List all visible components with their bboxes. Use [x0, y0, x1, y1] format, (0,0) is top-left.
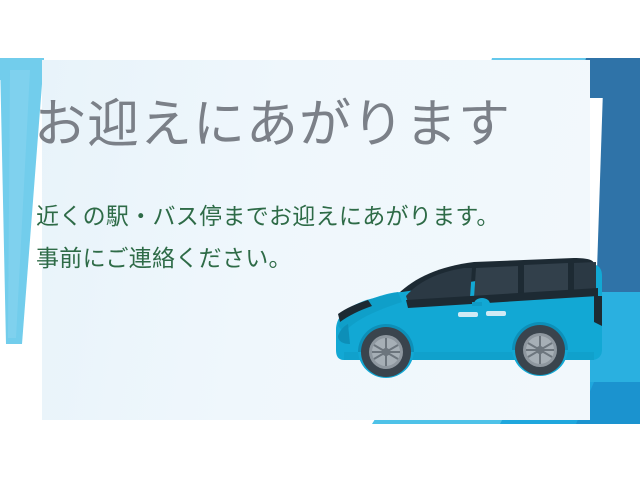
van-front-side-window [474, 266, 518, 298]
pickup-service-banner: お迎えにあがります 近くの駅・バス停までお迎えにあがります。 事前にご連絡くださ… [0, 0, 640, 480]
description-line-2: 事前にご連絡ください。 [36, 247, 292, 270]
van-taillight [594, 296, 602, 326]
van-front-wheel [361, 327, 411, 377]
van-rear-wheel [515, 325, 565, 375]
van-b-pillar [518, 264, 524, 296]
van-mirror-arm [472, 302, 482, 306]
van-c-pillar [568, 262, 574, 293]
van-rear-door-handle [486, 311, 506, 316]
van-front-door-handle [458, 312, 478, 317]
van-rear-side-window [574, 262, 596, 292]
page-title: お迎えにあがります [34, 98, 511, 153]
description-line-1: 近くの駅・バス停までお迎えにあがります。 [36, 205, 500, 228]
minivan-illustration [322, 252, 608, 384]
van-middle-side-window [524, 263, 568, 295]
